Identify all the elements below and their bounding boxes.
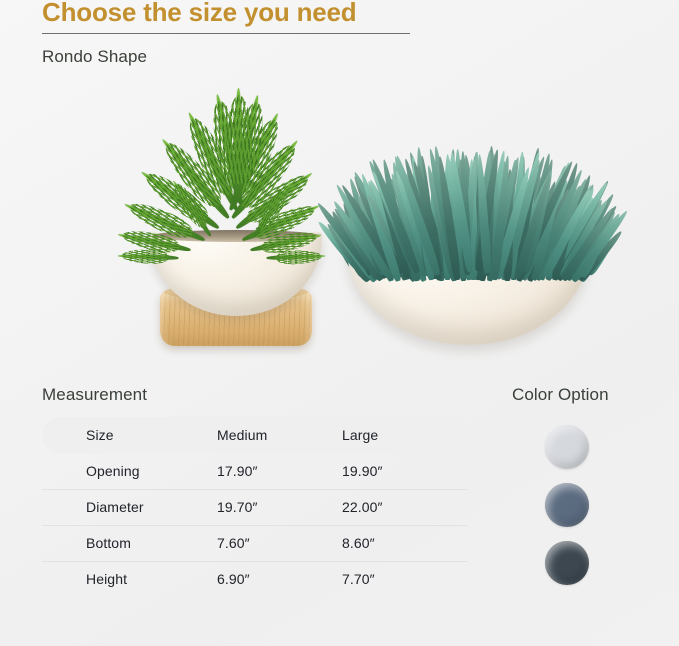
- measurement-table-header: Size Medium Large: [42, 417, 467, 453]
- swatch-light-gray[interactable]: [545, 425, 589, 469]
- product-hero-image: [0, 82, 679, 367]
- page-title: Choose the size you need: [42, 0, 357, 28]
- row-value-medium: 6.90″: [217, 561, 342, 597]
- table-header-row: Size Medium Large: [42, 417, 467, 453]
- measurement-table-body: Opening 17.90″ 19.90″ Diameter 19.70″ 22…: [42, 453, 467, 597]
- table-row: Opening 17.90″ 19.90″: [42, 453, 467, 489]
- column-header-medium: Medium: [217, 417, 342, 453]
- fern-frond: [234, 88, 242, 202]
- measurement-heading: Measurement: [42, 385, 467, 405]
- table-row: Height 6.90″ 7.70″: [42, 561, 467, 597]
- color-option-section: Color Option: [512, 385, 652, 585]
- table-row: Bottom 7.60″ 8.60″: [42, 525, 467, 561]
- title-divider: [42, 33, 410, 34]
- table-row: Diameter 19.70″ 22.00″: [42, 489, 467, 525]
- row-value-large: 7.70″: [342, 561, 467, 597]
- color-option-heading: Color Option: [512, 385, 652, 405]
- row-value-large: 19.90″: [342, 453, 467, 489]
- row-value-medium: 17.90″: [217, 453, 342, 489]
- measurement-section: Measurement Size Medium Large Opening 17…: [42, 385, 467, 597]
- row-value-large: 8.60″: [342, 525, 467, 561]
- blue-succulent-plant: [332, 82, 604, 278]
- row-label: Opening: [42, 453, 217, 489]
- column-header-size: Size: [42, 417, 217, 453]
- row-value-medium: 7.60″: [217, 525, 342, 561]
- page-subtitle: Rondo Shape: [42, 47, 147, 67]
- fern-frond: [266, 254, 325, 260]
- swatch-slate-blue[interactable]: [545, 483, 589, 527]
- row-label: Height: [42, 561, 217, 597]
- measurement-table: Size Medium Large Opening 17.90″ 19.90″ …: [42, 417, 467, 597]
- column-header-large: Large: [342, 417, 467, 453]
- color-swatch-list: [512, 425, 652, 585]
- row-label: Bottom: [42, 525, 217, 561]
- row-value-medium: 19.70″: [217, 489, 342, 525]
- row-label: Diameter: [42, 489, 217, 525]
- large-bowl-product: [332, 82, 604, 364]
- swatch-dark-charcoal[interactable]: [545, 541, 589, 585]
- row-value-large: 22.00″: [342, 489, 467, 525]
